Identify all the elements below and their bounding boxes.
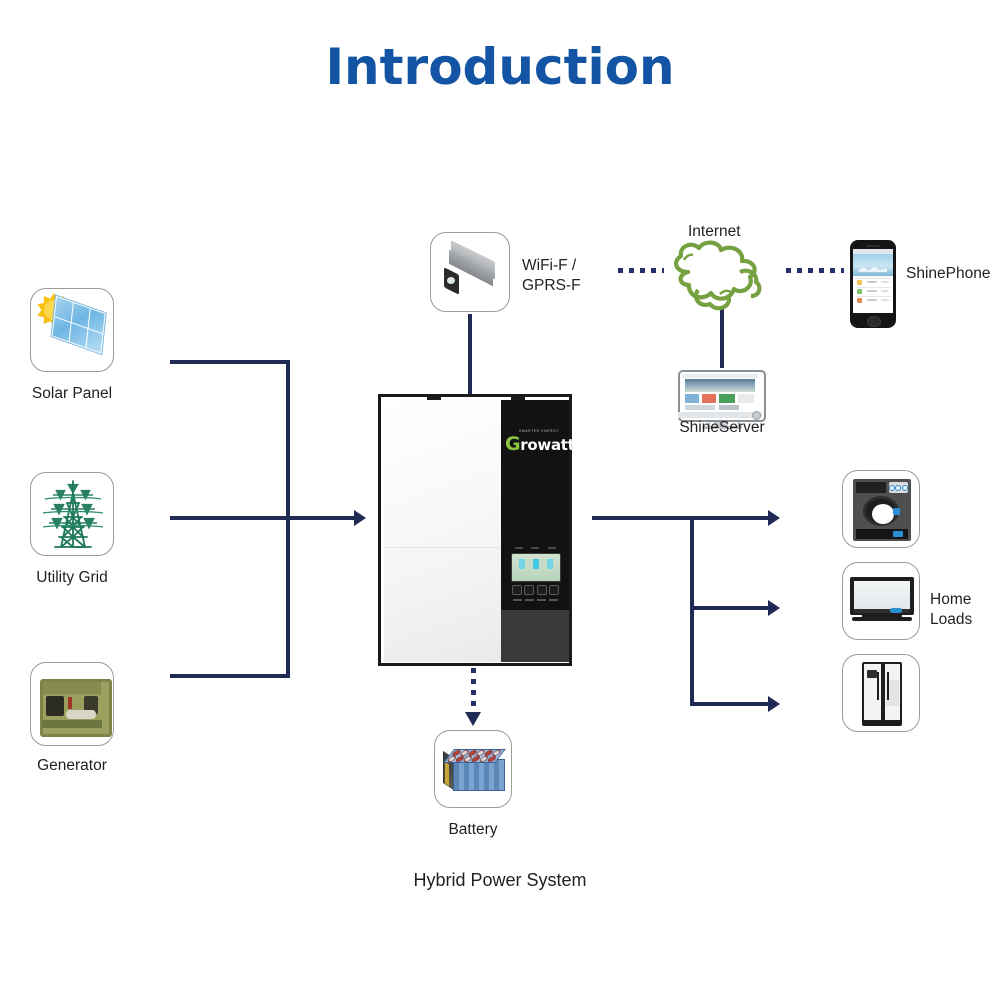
inverter-button-esc[interactable] [512, 585, 522, 595]
inverter-lcd-screen [511, 553, 561, 582]
line-solar-to-bus [170, 360, 290, 364]
home-loads-label: Home Loads [930, 590, 1000, 630]
line-grid-to-bus [170, 516, 290, 520]
line-generator-to-bus [170, 674, 290, 678]
line-module-to-inverter [468, 314, 472, 396]
system-caption: Hybrid Power System [0, 870, 1000, 891]
refrigerator-icon [862, 662, 902, 726]
diagram-canvas: Introduction Solar Panel [0, 0, 1000, 1000]
solar-panel-label: Solar Panel [6, 384, 138, 404]
shinephone-label: ShinePhone [906, 264, 1000, 284]
page-title: Introduction [0, 38, 1000, 96]
inverter-vent-panel [501, 610, 569, 662]
generator-card[interactable] [30, 662, 114, 746]
internet-label: Internet [688, 222, 818, 242]
dashed-inverter-to-battery [471, 668, 476, 716]
line-bus-to-fridge [690, 702, 772, 706]
battery-bank-icon [443, 749, 505, 793]
line-bus-to-inverter [286, 516, 362, 520]
wifi-gprs-label: WiFi-F / GPRS-F [522, 256, 642, 296]
right-bus-vertical [690, 516, 694, 706]
inverter-seam [384, 547, 501, 548]
inverter-button-enter[interactable] [549, 585, 559, 595]
inverter-body-white [384, 400, 501, 662]
shineserver-label: ShineServer [656, 418, 788, 438]
refrigerator-card[interactable] [842, 654, 920, 732]
wifi-gprs-module-card[interactable] [430, 232, 510, 312]
solar-panel-card[interactable] [30, 288, 114, 372]
arrow-to-tv [768, 600, 780, 616]
phone-home-button[interactable] [867, 316, 881, 327]
line-inverter-to-loads-bus [592, 516, 772, 520]
utility-grid-card[interactable] [30, 472, 114, 556]
washing-machine-card[interactable] [842, 470, 920, 548]
wifi-gprs-dongle-icon [443, 249, 499, 297]
transmission-tower-icon [31, 473, 115, 557]
washing-machine-icon [853, 479, 911, 541]
line-bus-to-tv [690, 606, 772, 610]
inverter-status-leds [511, 545, 560, 551]
shinephone-icon[interactable] [850, 240, 896, 328]
generator-icon [40, 679, 106, 731]
brand-initial: G [505, 433, 520, 455]
hybrid-inverter[interactable]: SMARTER ENERGY Growatt [378, 394, 572, 666]
inverter-button-labels [511, 599, 560, 604]
arrow-to-washer [768, 510, 780, 526]
inverter-button-down[interactable] [537, 585, 547, 595]
brand-rest: rowatt [520, 436, 574, 454]
generator-label: Generator [6, 756, 138, 776]
inverter-button-up[interactable] [524, 585, 534, 595]
internet-cloud-icon [662, 238, 778, 316]
inverter-buttons[interactable] [511, 585, 560, 599]
battery-card[interactable] [434, 730, 512, 808]
arrow-to-battery [465, 712, 481, 726]
television-card[interactable] [842, 562, 920, 640]
arrow-to-fridge [768, 696, 780, 712]
arrow-bus-to-inverter [354, 510, 366, 526]
television-icon [850, 577, 914, 623]
utility-grid-label: Utility Grid [6, 568, 138, 588]
dashed-cloud-to-phone [786, 268, 844, 273]
inverter-control-panel[interactable] [509, 545, 562, 607]
solar-panel-icon [51, 298, 109, 362]
battery-label: Battery [412, 820, 534, 840]
inverter-brand-logo: Growatt [505, 433, 569, 455]
